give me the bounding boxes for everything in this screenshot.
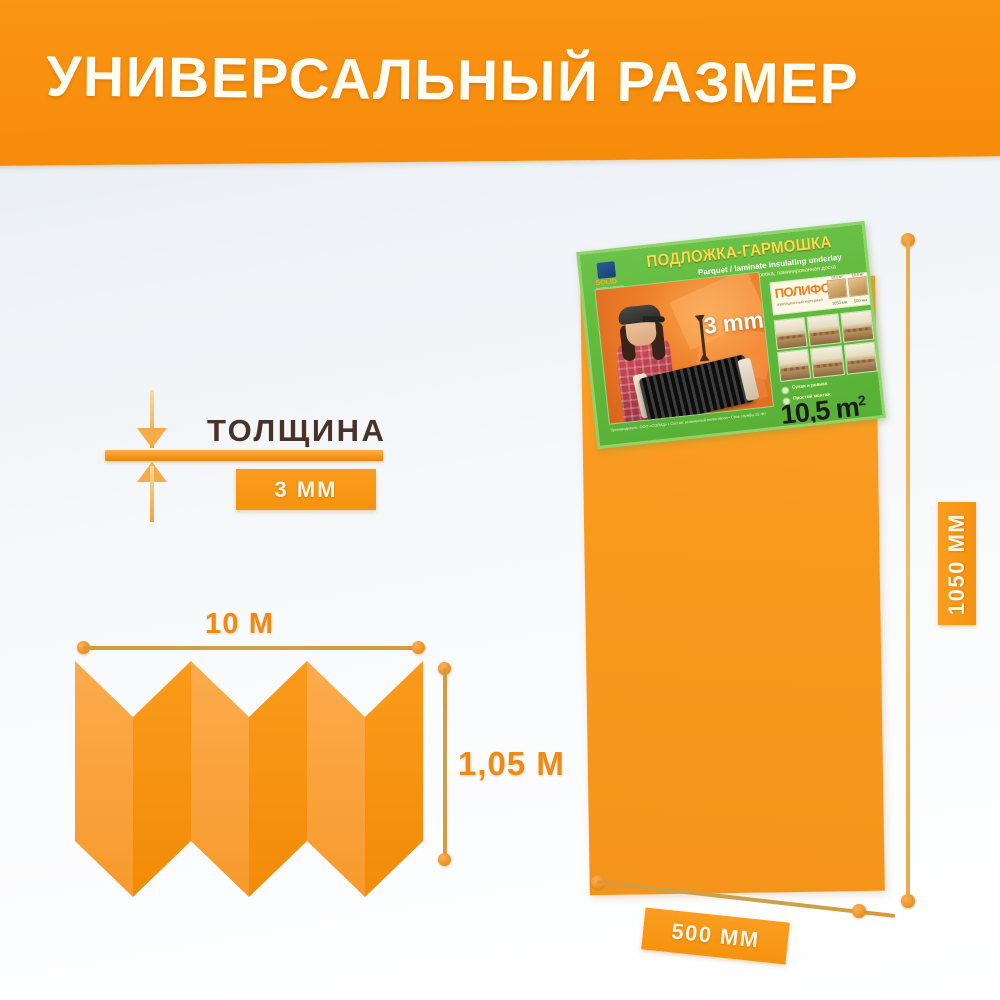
size-chip-2: 10,5 м² 500 мм [848, 276, 869, 297]
installation-steps-grid [774, 310, 878, 382]
product-sheet-diagram: ПОДЛОЖКА-ГАРМОШКА Parquet / laminate ins… [0, 0, 1000, 1000]
install-step-thumb [840, 310, 874, 343]
feature-text: Сухая и ровная [792, 381, 828, 390]
size-chip-1-caption: 10,5 м² [827, 274, 846, 280]
product-photo: 3 mm [594, 272, 774, 425]
size-chip-2-caption: 10,5 м² [848, 272, 867, 278]
install-step-thumb [777, 349, 811, 382]
height-badge: 1050 ММ [938, 502, 976, 625]
sheet-width-dot-right [852, 904, 866, 918]
size-chip-2-label: 500 мм [850, 297, 871, 304]
product-brand-strip: ПОЛИФОМ изоляционный материал 10,5 м² 10… [770, 272, 871, 315]
size-chip-1: 10,5 м² 1050 мм [827, 278, 848, 299]
area-exponent: 2 [857, 392, 865, 409]
install-step-thumb [843, 342, 877, 375]
check-icon [781, 386, 790, 395]
size-chip-1-label: 1050 мм [829, 299, 850, 306]
infographic-canvas: УНИВЕРСАЛЬНЫЙ РАЗМЕР ТОЛЩИНА 3 ММ 10 М [0, 0, 1000, 1000]
sheet-width-badge: 500 ММ [641, 908, 790, 965]
sheet-width-badge-value: 500 ММ [670, 918, 761, 953]
install-step-thumb [774, 317, 808, 350]
install-step-thumb [807, 313, 841, 346]
height-dimension-dot-bottom [901, 894, 915, 908]
brand-mark-icon [596, 261, 616, 279]
height-dimension-line [906, 240, 910, 900]
install-step-thumb [810, 345, 844, 378]
product-package-label: ПОДЛОЖКА-ГАРМОШКА Parquet / laminate ins… [576, 221, 886, 449]
height-badge-value: 1050 ММ [944, 512, 970, 614]
person-cap-brim [643, 316, 665, 322]
